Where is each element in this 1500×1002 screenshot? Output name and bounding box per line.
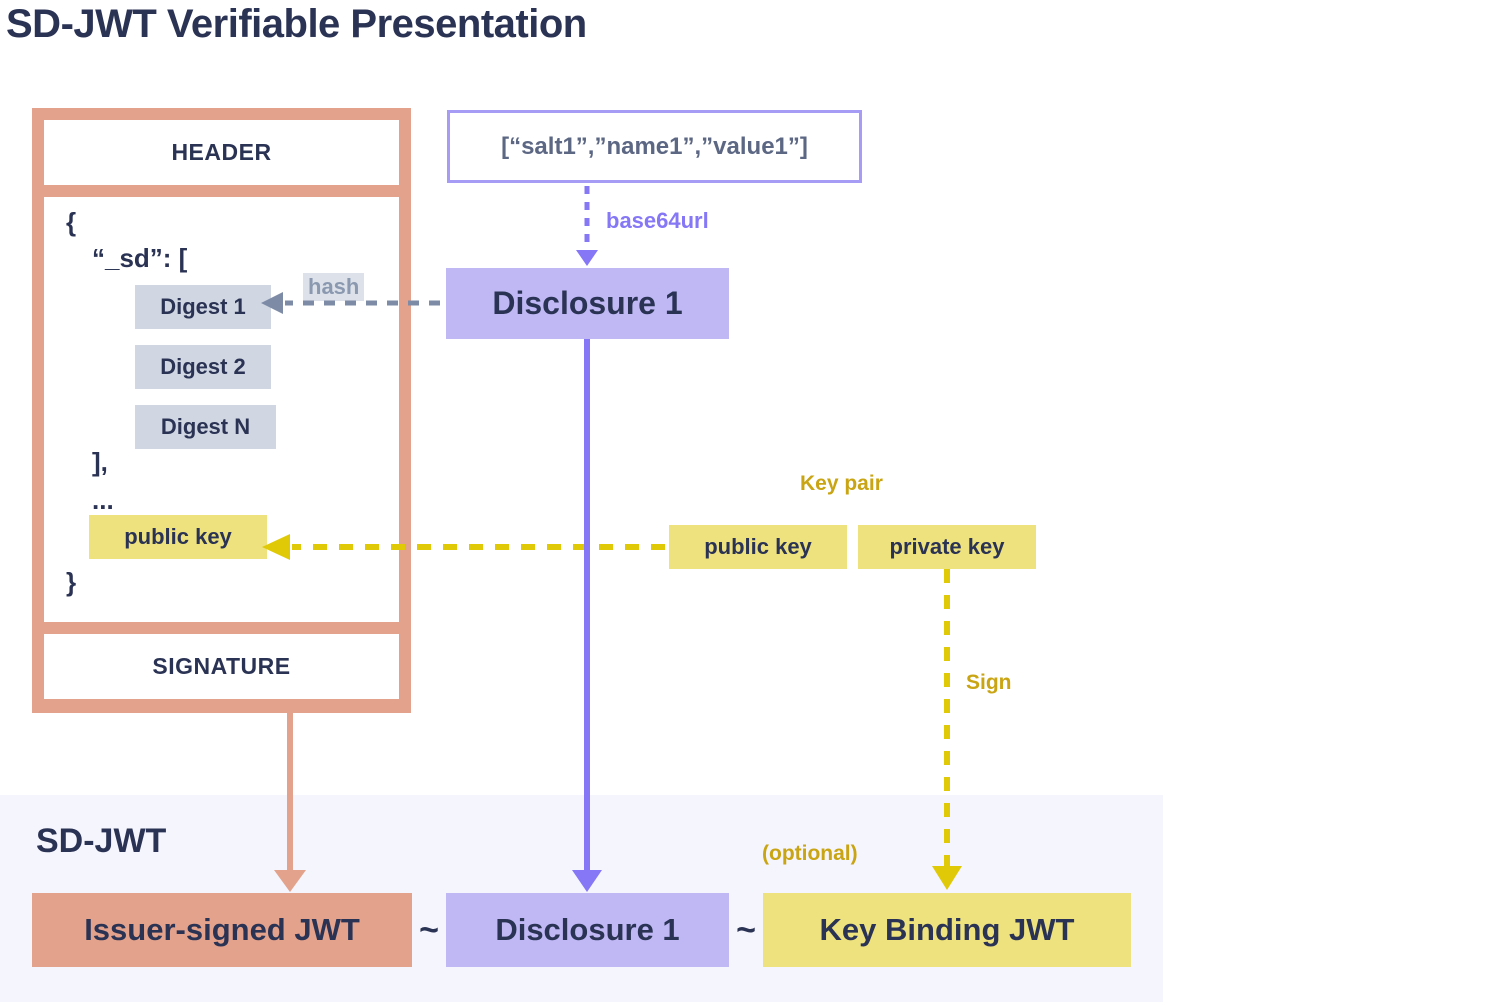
- digest-chip-n: Digest N: [135, 405, 276, 449]
- key-pair-private-key-chip: private key: [858, 525, 1036, 569]
- bottom-disclosure-1: Disclosure 1: [446, 893, 729, 967]
- payload-public-key-chip: public key: [89, 515, 267, 559]
- base64url-label: base64url: [606, 208, 709, 234]
- sd-jwt-band-title: SD-JWT: [36, 822, 166, 861]
- separator-tilde-1: ~: [412, 893, 446, 967]
- json-ellipsis: ...: [92, 487, 114, 513]
- bottom-issuer-signed-jwt: Issuer-signed JWT: [32, 893, 412, 967]
- key-pair-label: Key pair: [800, 472, 883, 496]
- sign-label: Sign: [966, 671, 1012, 695]
- jwt-header-section: HEADER: [44, 120, 399, 185]
- digest-chip-1: Digest 1: [135, 285, 271, 329]
- digest-chip-2: Digest 2: [135, 345, 271, 389]
- disclosure-array-literal-box: [“salt1”,”name1”,”value1”]: [447, 110, 862, 183]
- key-pair-public-key-chip: public key: [669, 525, 847, 569]
- json-bracket-close: ],: [92, 449, 108, 475]
- arrow-base64url: [576, 186, 598, 266]
- json-sd-key: “_sd”: [: [92, 245, 187, 271]
- json-brace-open: {: [66, 209, 76, 235]
- hash-label: hash: [303, 273, 364, 301]
- page-title: SD-JWT Verifiable Presentation: [6, 2, 587, 47]
- json-brace-close: }: [66, 569, 76, 595]
- issuer-signed-jwt-structure: HEADER { “_sd”: [ Digest 1 Digest 2 Dige…: [32, 108, 411, 713]
- separator-tilde-2: ~: [729, 893, 763, 967]
- optional-label: (optional): [762, 842, 858, 866]
- jwt-signature-section: SIGNATURE: [44, 634, 399, 699]
- jwt-payload-section: { “_sd”: [ Digest 1 Digest 2 Digest N ],…: [44, 197, 399, 622]
- bottom-key-binding-jwt: Key Binding JWT: [763, 893, 1131, 967]
- diagram-canvas: SD-JWT Verifiable Presentation HEADER { …: [0, 0, 1500, 1002]
- disclosure-1-box: Disclosure 1: [446, 268, 729, 339]
